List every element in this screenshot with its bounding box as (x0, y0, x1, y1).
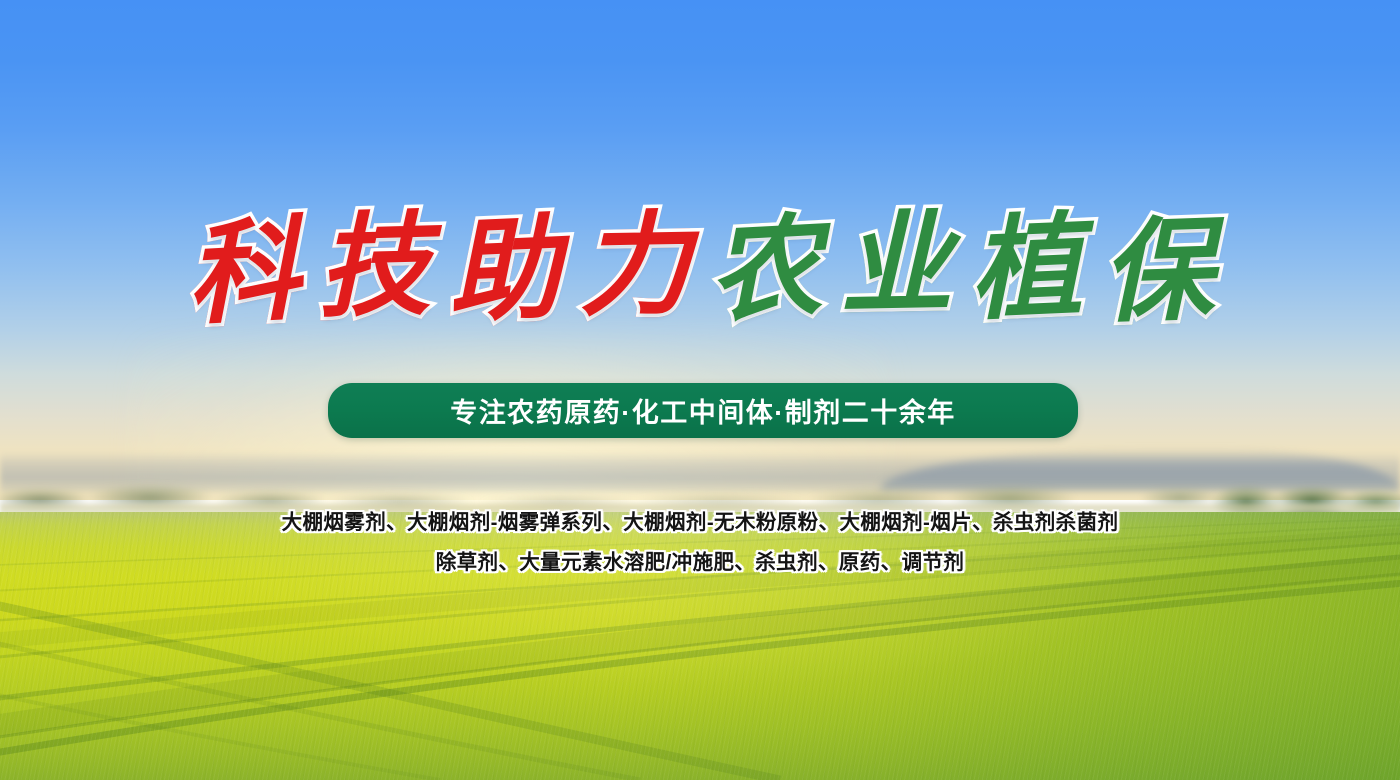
promo-banner: 科 技 助 力 农 业 植 保 专注农药原药·化工中间体·制剂二十余年 大棚烟雾… (0, 0, 1400, 780)
title-char-1: 科 (185, 215, 303, 333)
title-char-4: 力 (578, 210, 692, 324)
product-line-1: 大棚烟雾剂、大棚烟剂-烟雾弹系列、大棚烟剂-无木粉原粉、大棚烟剂-烟片、杀虫剂杀… (0, 503, 1400, 543)
product-line-2: 除草剂、大量元素水溶肥/冲施肥、杀虫剂、原药、调节剂 (0, 543, 1400, 583)
title-char-8: 保 (1099, 215, 1215, 331)
product-list: 大棚烟雾剂、大棚烟剂-烟雾弹系列、大棚烟剂-无木粉原粉、大棚烟剂-烟片、杀虫剂杀… (0, 503, 1400, 583)
title-char-5: 农 (706, 212, 824, 330)
subtitle-text: 专注农药原药·化工中间体·制剂二十余年 (450, 391, 955, 430)
page-title: 科 技 助 力 农 业 植 保 (0, 214, 1400, 326)
title-char-6: 业 (839, 209, 953, 323)
title-char-7: 植 (968, 212, 1085, 329)
title-char-2: 技 (316, 211, 431, 326)
title-char-3: 助 (446, 214, 563, 331)
subtitle-pill: 专注农药原药·化工中间体·制剂二十余年 (328, 383, 1078, 438)
